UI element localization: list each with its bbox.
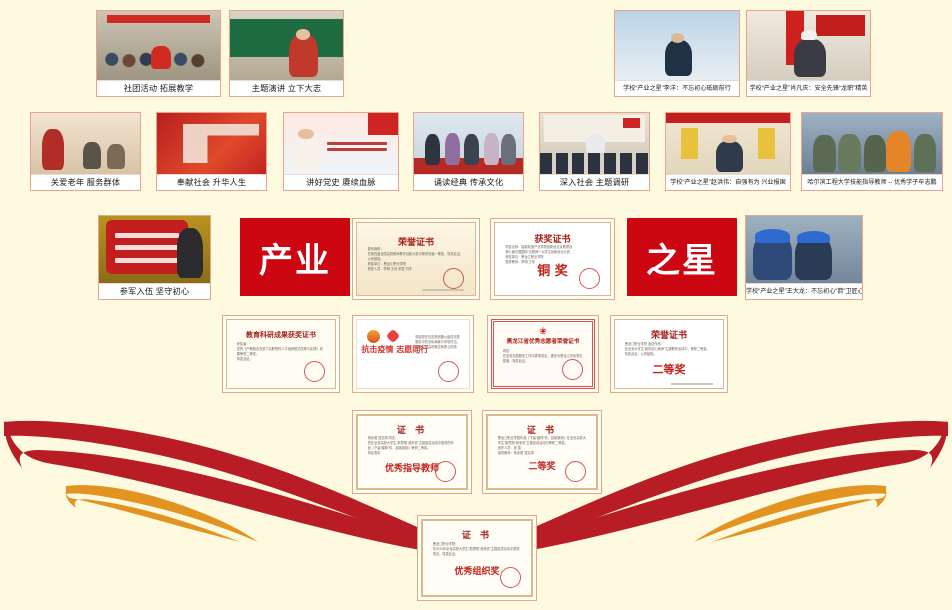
certificate-edu-research-title: 教育科研成果获奖证书 bbox=[227, 330, 335, 340]
caption-social-research: 深入社会 主题调研 bbox=[540, 174, 649, 190]
photo-star-li-yang bbox=[615, 11, 739, 80]
certificate-excellent-instructor-seal bbox=[435, 461, 456, 482]
certificate-edu-research[interactable]: 教育科研成果获奖证书 获奖者：您的《产教融合背景下高职院校人才培养模式改革与实践… bbox=[222, 315, 340, 393]
certificate-edu-research-body: 获奖者：您的《产教融合背景下高职院校人才培养模式改革与实践》成果荣获二等奖。特发… bbox=[237, 342, 326, 362]
caption-theme-speech: 主题演讲 立下大志 bbox=[230, 80, 343, 96]
photo-elderly-care bbox=[31, 113, 140, 174]
certificate-second-prize-work-body: 黑龙江职业学院作品《下留“越味”情，延续新篇》在全省高校大学生“新思想·我来说”… bbox=[498, 436, 587, 456]
photo-social-research bbox=[540, 113, 649, 174]
photo-card-military-enlist[interactable]: 参军入伍 坚守初心 bbox=[98, 215, 211, 300]
heart-icon bbox=[386, 329, 400, 343]
word-block-chanye-text: 产业 bbox=[259, 233, 331, 282]
certificate-honor-1[interactable]: 荣誉证书 兹有我校：在第四届全国高校教师教学创新大赛中荣获省级一等奖，特发此证，… bbox=[352, 218, 480, 300]
certificate-excellent-instructor-title: 证 书 bbox=[358, 423, 466, 436]
certificate-honor-1-seal bbox=[443, 268, 464, 289]
certificate-honor-1-title: 荣誉证书 bbox=[357, 235, 475, 248]
photo-card-party-history[interactable]: 讲好党史 赓续血脉 bbox=[283, 112, 399, 191]
certificate-honor-second-prize-title: 荣誉证书 bbox=[615, 328, 723, 341]
certificate-award-bronze-body: 项目名称：智能制造产业学院创新创业实践项目第七届中国国际“互联网+”大学生创新创… bbox=[505, 245, 599, 265]
photo-card-elderly-care[interactable]: 关爱老年 服务群体 bbox=[30, 112, 141, 191]
certificate-excellent-instructor[interactable]: 证 书 杨永丽 谭嘉琪 同志：您在全省高校大学生“新思想·我来说”主题宣讲活动中… bbox=[352, 410, 472, 494]
certificate-hlj-volunteer[interactable]: ❀ 黑龙江省优秀志愿者荣誉证书 同志：在全省志愿服务工作中表现突出，被评为黑龙江… bbox=[487, 315, 599, 393]
certificate-award-bronze[interactable]: 获奖证书 铜 奖 项目名称：智能制造产业学院创新创业实践项目第七届中国国际“互联… bbox=[490, 218, 615, 300]
photo-star-wang-da-long bbox=[746, 216, 862, 283]
photo-star-xiao-fan-qing bbox=[747, 11, 870, 80]
word-block-chanye: 产业 bbox=[240, 218, 350, 296]
caption-star-li-yang: 学校“产业之星”李洋：不忘初心砥砺前行 bbox=[615, 80, 739, 96]
caption-honor-roll: 奉献社会 升华人生 bbox=[157, 174, 266, 190]
certificate-best-organization[interactable]: 证 书 黑龙江职业学院：在2020年全省高校大学生“新思想·我来说”主题宣讲活动… bbox=[417, 515, 537, 601]
photo-star-zhao-hong-wei bbox=[666, 113, 790, 174]
certificate-second-prize-work[interactable]: 证 书 黑龙江职业学院作品《下留“越味”情，延续新篇》在全省高校大学生“新思想·… bbox=[482, 410, 602, 494]
certificate-second-prize-work-seal bbox=[565, 461, 586, 482]
certificate-award-bronze-title: 获奖证书 bbox=[495, 232, 610, 245]
certificate-volunteer-epidemic-title: 抗击疫情 志愿同行 bbox=[361, 344, 413, 355]
certificate-volunteer-epidemic-seal bbox=[438, 361, 459, 382]
certificate-edu-research-seal bbox=[304, 361, 325, 382]
photo-classics-reading bbox=[414, 113, 523, 174]
photo-club-activity bbox=[97, 11, 220, 80]
photo-card-star-xiao-fan-qing[interactable]: 学校“产业之星”肖凡庆：安全先锋“龙职”精英 bbox=[746, 10, 871, 97]
culture-wall-board: 社团活动 拓展教学 主题演讲 立下大志 学校“产业之星”李洋：不忘初心砥砺前行 … bbox=[0, 0, 952, 610]
caption-classics-reading: 诵读经典 传承文化 bbox=[414, 174, 523, 190]
sun-icon bbox=[367, 330, 380, 343]
photo-military-enlist bbox=[99, 216, 210, 283]
photo-honor-roll bbox=[157, 113, 266, 174]
certificate-honor-second-prize-signature bbox=[671, 383, 713, 385]
word-block-zhixing: 之星 bbox=[627, 218, 737, 296]
photo-card-classics-reading[interactable]: 诵读经典 传承文化 bbox=[413, 112, 524, 191]
certificate-best-organization-title: 证 书 bbox=[423, 528, 531, 541]
certificate-hlj-volunteer-title: 黑龙江省优秀志愿者荣誉证书 bbox=[494, 337, 592, 345]
photo-card-star-li-yang[interactable]: 学校“产业之星”李洋：不忘初心砥砺前行 bbox=[614, 10, 740, 97]
photo-card-star-zhao-hong-wei[interactable]: 学校“产业之星”赵洪伟：自强有为 兴业报国 bbox=[665, 112, 791, 191]
certificate-honor-second-prize-body: 黑龙江职业学院 选送作品：在全省大学生“我的初心使命”主题教育活动中，荣获二等奖… bbox=[625, 342, 714, 357]
caption-military-enlist: 参军入伍 坚守初心 bbox=[99, 283, 210, 299]
photo-card-club-activity[interactable]: 社团活动 拓展教学 bbox=[96, 10, 221, 97]
photo-heu-mentor bbox=[802, 113, 942, 174]
caption-star-zhao-hong-wei: 学校“产业之星”赵洪伟：自强有为 兴业报国 bbox=[666, 174, 790, 190]
certificate-honor-second-prize[interactable]: 荣誉证书 二等奖 黑龙江职业学院 选送作品：在全省大学生“我的初心使命”主题教育… bbox=[610, 315, 728, 393]
caption-party-history: 讲好党史 赓续血脉 bbox=[284, 174, 398, 190]
certificate-best-organization-body: 黑龙江职业学院：在2020年全省高校大学生“新思想·我来说”主题宣讲活动中表现突… bbox=[433, 542, 522, 557]
certificate-honor-1-signature bbox=[422, 289, 464, 291]
photo-card-social-research[interactable]: 深入社会 主题调研 bbox=[539, 112, 650, 191]
certificate-hlj-volunteer-seal bbox=[562, 359, 583, 380]
caption-club-activity: 社团活动 拓展教学 bbox=[97, 80, 220, 96]
word-block-zhixing-text: 之星 bbox=[646, 233, 718, 282]
caption-star-xiao-fan-qing: 学校“产业之星”肖凡庆：安全先锋“龙职”精英 bbox=[747, 80, 870, 96]
certificate-award-bronze-seal bbox=[579, 268, 600, 289]
certificate-second-prize-work-title: 证 书 bbox=[488, 423, 596, 436]
certificate-volunteer-epidemic[interactable]: 抗击疫情 志愿同行 感谢您在抗击新冠肺炎疫情志愿服务中的无私奉献与辛勤付出，谨致… bbox=[352, 315, 474, 393]
flower-icon: ❀ bbox=[494, 326, 592, 337]
certificate-best-organization-seal bbox=[500, 567, 521, 588]
caption-star-wang-da-long: 学校“产业之星”王大龙：不忘初心“箭”卫匠心 bbox=[746, 283, 862, 299]
photo-card-honor-roll[interactable]: 奉献社会 升华人生 bbox=[156, 112, 267, 191]
photo-party-history bbox=[284, 113, 398, 174]
caption-elderly-care: 关爱老年 服务群体 bbox=[31, 174, 140, 190]
certificate-excellent-instructor-body: 杨永丽 谭嘉琪 同志：您在全省高校大学生“新思想·我来说”主题宣讲活动中指导的作… bbox=[368, 436, 457, 456]
photo-card-star-wang-da-long[interactable]: 学校“产业之星”王大龙：不忘初心“箭”卫匠心 bbox=[745, 215, 863, 300]
certificate-volunteer-epidemic-body: 感谢您在抗击新冠肺炎疫情志愿服务中的无私奉献与辛勤付出，谨致以崇高的敬意和衷心的… bbox=[415, 335, 462, 355]
certificate-honor-second-prize-award: 二等奖 bbox=[615, 361, 723, 377]
photo-card-heu-mentor[interactable]: 哈尔滨工程大学技能指导教师 -- 优秀学子牟志鹏 bbox=[801, 112, 943, 191]
caption-heu-mentor: 哈尔滨工程大学技能指导教师 -- 优秀学子牟志鹏 bbox=[802, 174, 942, 190]
photo-card-theme-speech[interactable]: 主题演讲 立下大志 bbox=[229, 10, 344, 97]
photo-theme-speech bbox=[230, 11, 343, 80]
